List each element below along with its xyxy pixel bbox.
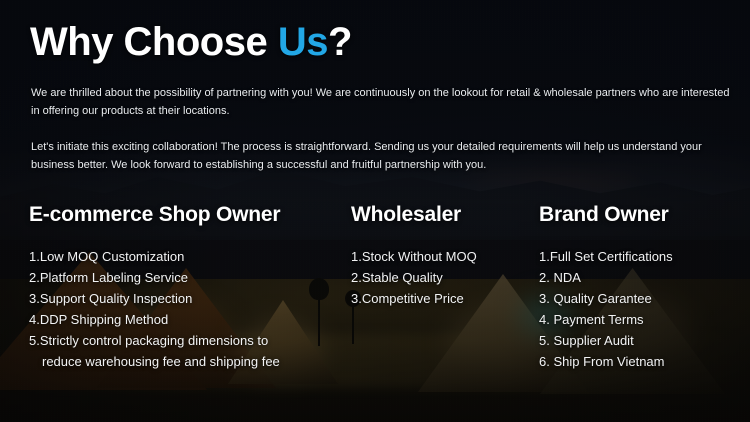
column-ecommerce-shop-owner: E-commerce Shop Owner 1.Low MOQ Customiz… [29, 203, 349, 372]
list-item: 4. Payment Terms [539, 309, 739, 330]
title-suffix: ? [328, 20, 352, 64]
list-item-continuation: reduce warehousing fee and shipping fee [29, 351, 349, 372]
title-accent: Us [278, 20, 328, 64]
intro-text: We are thrilled about the possibility of… [31, 84, 731, 174]
list-item: 4.DDP Shipping Method [29, 309, 349, 330]
title-main: Why Choose [30, 20, 278, 64]
slide-why-choose-us: Why Choose Us? We are thrilled about the… [0, 0, 750, 422]
column-brand-owner: Brand Owner 1.Full Set Certifications 2.… [539, 203, 739, 372]
column-list: 1.Full Set Certifications 2. NDA 3. Qual… [539, 246, 739, 372]
list-item: 1.Stock Without MOQ [351, 246, 531, 267]
list-item: 3. Quality Garantee [539, 288, 739, 309]
list-item: 2.Stable Quality [351, 267, 531, 288]
list-item: 3.Competitive Price [351, 288, 531, 309]
list-item: 1.Low MOQ Customization [29, 246, 349, 267]
list-item: 5.Strictly control packaging dimensions … [29, 330, 349, 351]
list-item: 3.Support Quality Inspection [29, 288, 349, 309]
intro-paragraph-1: We are thrilled about the possibility of… [31, 84, 731, 120]
column-wholesaler: Wholesaler 1.Stock Without MOQ 2.Stable … [351, 203, 531, 309]
column-heading: E-commerce Shop Owner [29, 203, 349, 227]
slide-content: Why Choose Us? We are thrilled about the… [0, 0, 750, 422]
list-item-wrap-line: reduce warehousing fee and shipping fee [29, 351, 349, 372]
column-list: 1.Low MOQ Customization 2.Platform Label… [29, 246, 349, 372]
benefit-columns: E-commerce Shop Owner 1.Low MOQ Customiz… [0, 203, 750, 403]
page-title: Why Choose Us? [30, 21, 352, 63]
column-list: 1.Stock Without MOQ 2.Stable Quality 3.C… [351, 246, 531, 309]
column-heading: Brand Owner [539, 203, 739, 227]
list-item: 2.Platform Labeling Service [29, 267, 349, 288]
list-item: 1.Full Set Certifications [539, 246, 739, 267]
list-item: 5. Supplier Audit [539, 330, 739, 351]
column-heading: Wholesaler [351, 203, 531, 227]
intro-paragraph-2: Let's initiate this exciting collaborati… [31, 138, 731, 174]
list-item: 2. NDA [539, 267, 739, 288]
list-item: 6. Ship From Vietnam [539, 351, 739, 372]
